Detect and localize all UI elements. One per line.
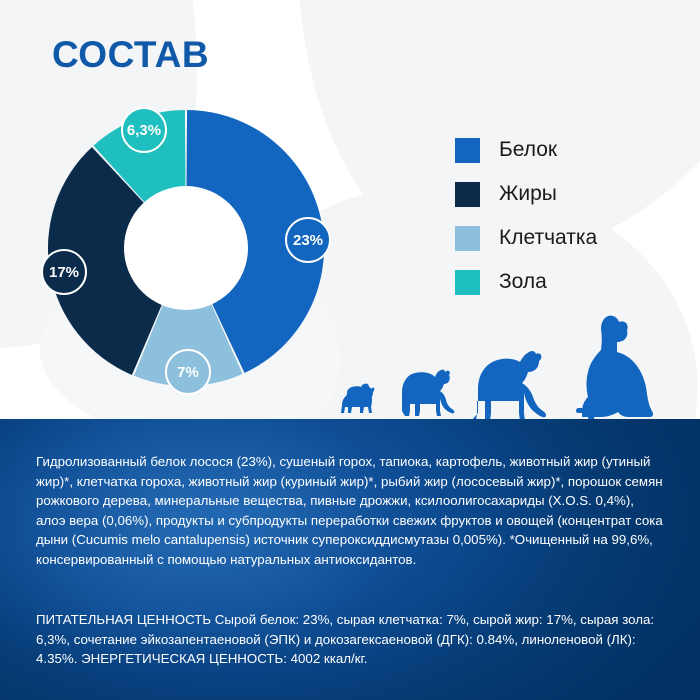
dog-size-silhouettes (330, 308, 670, 420)
legend-label-zola: Зола (499, 270, 547, 294)
donut-value-badge: 7% (165, 349, 211, 395)
legend-item-belok[interactable]: Белок (455, 128, 685, 172)
legend-item-zhiry[interactable]: Жиры (455, 172, 685, 216)
composition-donut-chart (48, 110, 324, 386)
dogs-svg (330, 308, 670, 420)
legend-label-belok: Белок (499, 138, 557, 162)
legend-swatch-icon-zola (455, 270, 480, 295)
ingredients-text: Гидролизованный белок лосося (23%), суше… (36, 452, 664, 569)
page-title: СОСТАВ (52, 36, 209, 73)
dog-silhouette-4 (576, 316, 653, 420)
dog-silhouette-2 (402, 370, 454, 416)
donut-svg (48, 110, 324, 386)
donut-value-badge: 17% (41, 249, 87, 295)
composition-infographic: СОСТАВ 23%7%17%6,3% Белок Жиры Клетчатка… (0, 0, 700, 700)
dog-silhouette-1 (341, 384, 374, 413)
legend-swatch-icon-belok (455, 138, 480, 163)
legend-item-zola[interactable]: Зола (455, 260, 685, 304)
legend-label-zhiry: Жиры (499, 182, 557, 206)
info-panel: Гидролизованный белок лосося (23%), суше… (0, 419, 700, 700)
dog-silhouette-3 (471, 351, 546, 420)
donut-value-badge: 23% (285, 217, 331, 263)
chart-legend: Белок Жиры Клетчатка Зола (455, 128, 685, 304)
legend-item-kletchatka[interactable]: Клетчатка (455, 216, 685, 260)
legend-swatch-icon-zhiry (455, 182, 480, 207)
legend-swatch-icon-kletchatka (455, 226, 480, 251)
donut-center-hole (124, 186, 248, 310)
legend-label-kletchatka: Клетчатка (499, 226, 597, 250)
nutrition-text: ПИТАТЕЛЬНАЯ ЦЕННОСТЬ Сырой белок: 23%, с… (36, 610, 664, 669)
donut-value-badge: 6,3% (121, 107, 167, 153)
